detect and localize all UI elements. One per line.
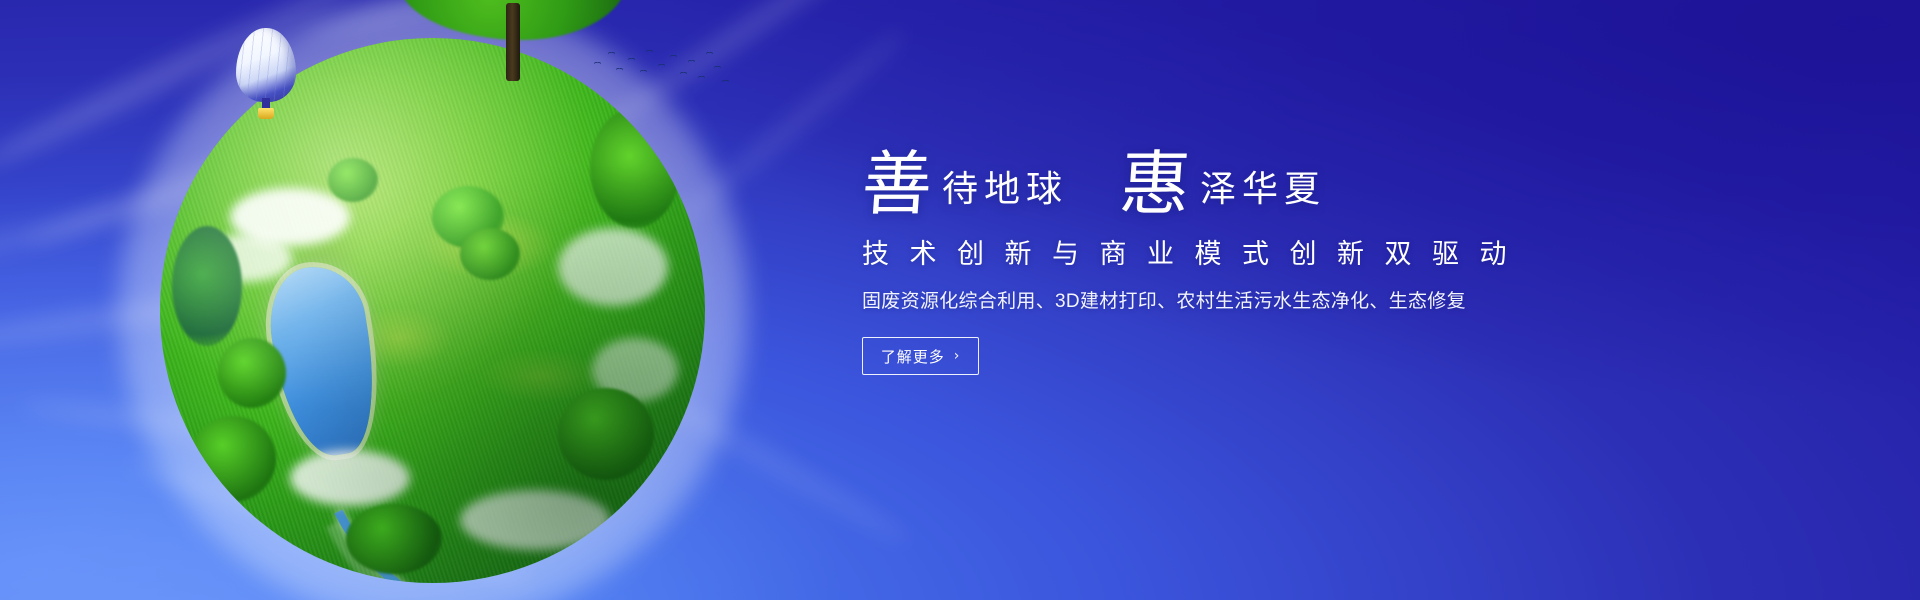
globe-cloud <box>558 228 668 306</box>
learn-more-button[interactable]: 了解更多 › <box>862 337 979 375</box>
tree-clump <box>590 108 680 228</box>
tree-clump <box>460 228 520 280</box>
headline-rest-2: 泽华夏 <box>1190 172 1326 208</box>
headline-brush-char-1: 善 <box>860 151 935 218</box>
tree-clump <box>190 416 276 502</box>
tree-clump <box>218 338 286 408</box>
tree-clump <box>172 226 242 346</box>
chevron-right-icon: › <box>954 349 961 363</box>
tree-clump <box>558 388 654 480</box>
learn-more-label: 了解更多 <box>881 346 945 367</box>
banner-subtitle: 技 术 创 新 与 商 业 模 式 创 新 双 驱 动 <box>862 232 1562 271</box>
hero-banner: 善 待地球 惠 泽华夏 技 术 创 新 与 商 业 模 式 创 新 双 驱 动 … <box>0 0 1920 600</box>
headline-rest-1: 待地球 <box>932 172 1068 208</box>
globe-cloud <box>460 490 610 550</box>
page-title: 善 待地球 惠 泽华夏 <box>862 128 1562 214</box>
tree-clump <box>346 504 442 574</box>
globe-cloud <box>290 450 410 506</box>
headline-brush-char-2: 惠 <box>1118 151 1193 218</box>
balloon-basket <box>258 108 274 119</box>
bird-flock-icon <box>592 46 732 92</box>
hot-air-balloon-icon <box>236 28 296 124</box>
tree-clump <box>328 158 378 202</box>
banner-description: 固废资源化综合利用、3D建材打印、农村生活污水生态净化、生态修复 <box>862 286 1562 313</box>
balloon-ribs <box>236 28 296 102</box>
tree-trunk <box>506 3 520 81</box>
banner-copy: 善 待地球 惠 泽华夏 技 术 创 新 与 商 业 模 式 创 新 双 驱 动 … <box>862 128 1562 375</box>
